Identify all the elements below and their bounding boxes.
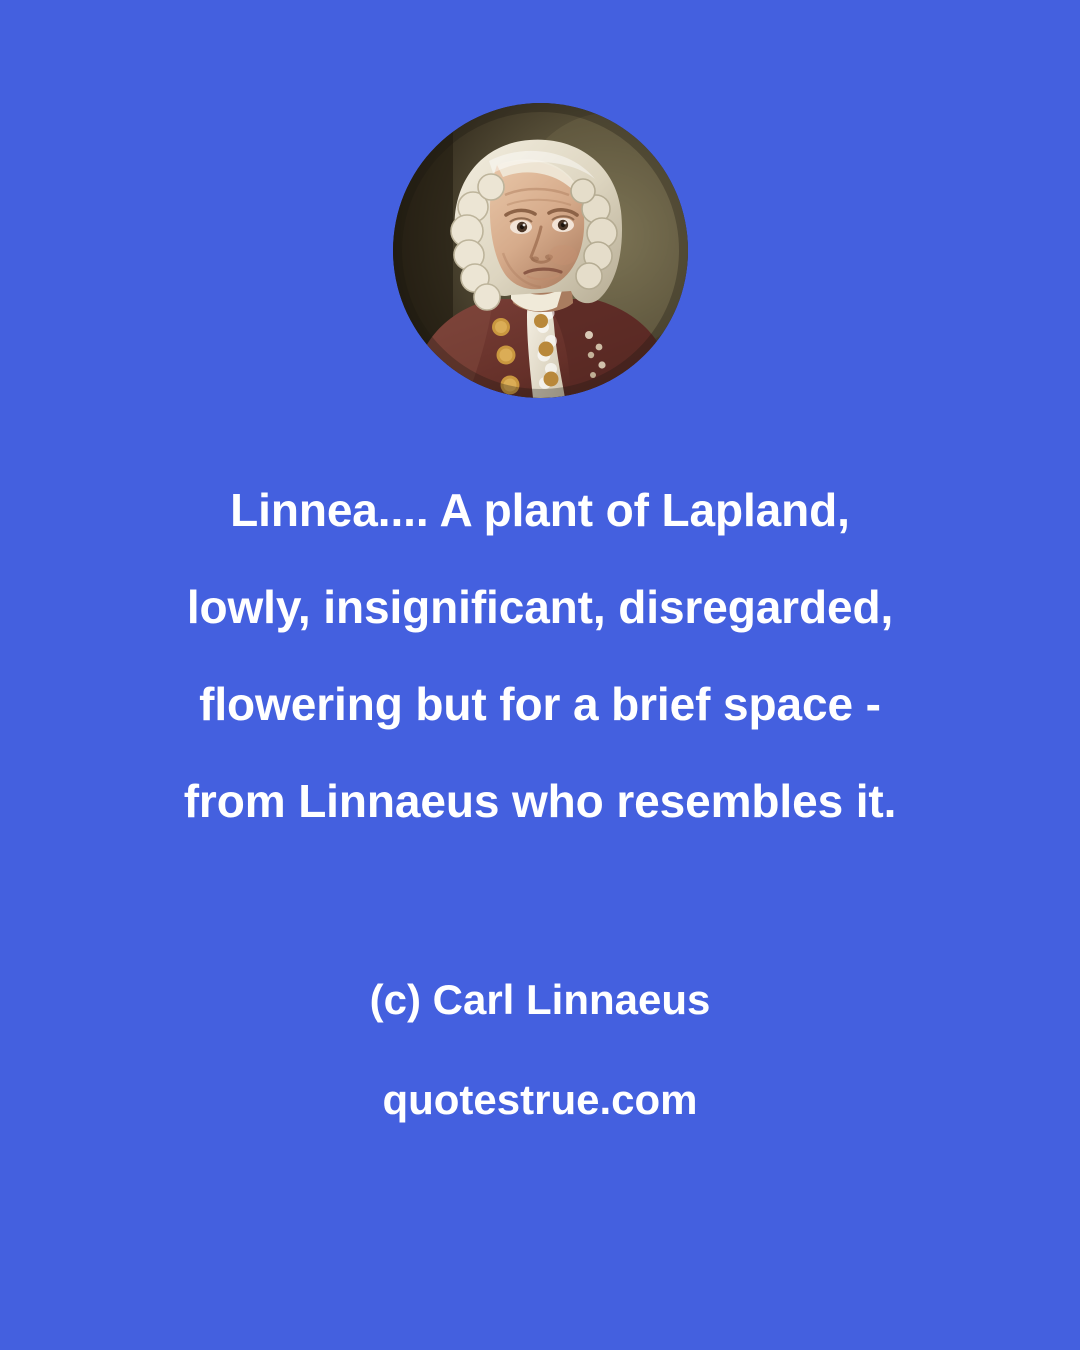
quote-attribution: (c) Carl Linnaeus — [0, 974, 1080, 1026]
quote-line: lowly, insignificant, disregarded, — [0, 559, 1080, 656]
carl-linnaeus-portrait — [393, 103, 688, 398]
quote-line: Linnea.... A plant of Lapland, — [0, 462, 1080, 559]
quote-line: flowering but for a brief space - — [0, 656, 1080, 753]
quote-text: Linnea.... A plant of Lapland, lowly, in… — [0, 462, 1080, 850]
quote-card: Linnea.... A plant of Lapland, lowly, in… — [0, 0, 1080, 1350]
quote-line: from Linnaeus who resembles it. — [0, 753, 1080, 850]
site-watermark: quotestrue.com — [0, 1074, 1080, 1126]
portrait-illustration — [393, 103, 688, 398]
